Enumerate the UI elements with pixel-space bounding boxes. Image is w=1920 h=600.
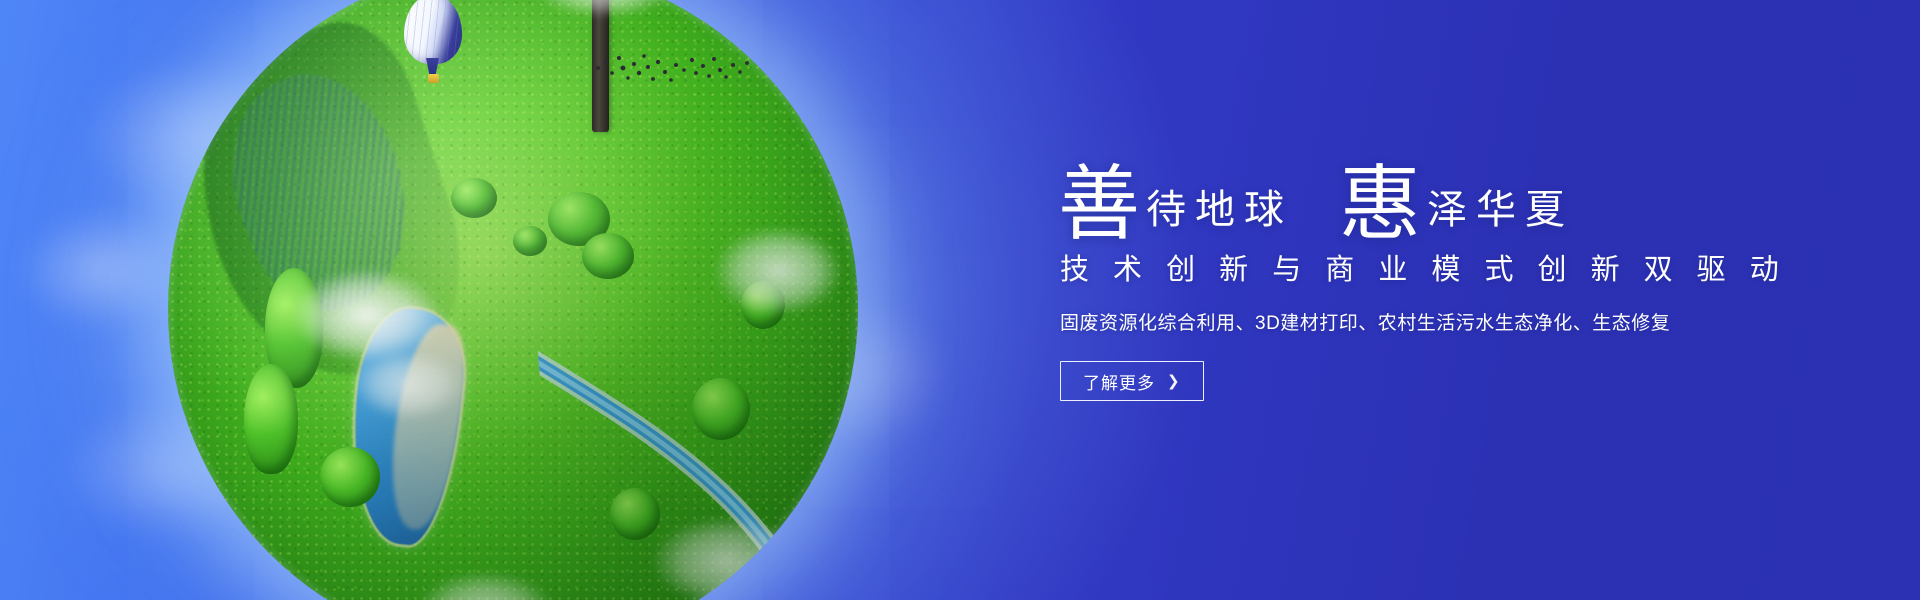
tree-clump [582,233,634,279]
tree-clump [692,378,750,440]
tree-clump [265,268,323,388]
tree-clump [610,488,660,540]
lake-shore [380,319,474,533]
lake [342,304,469,548]
page-title: 善 待地球 惠 泽华夏 [1058,140,1818,236]
balloon-basket [428,74,439,83]
cloud-wisp [18,210,188,330]
learn-more-label: 了解更多 [1083,369,1155,394]
cloud-patch [416,571,556,600]
bird-flock-icon [592,46,752,98]
headline-part1-big: 善 [1058,167,1140,242]
headline-part2-big: 惠 [1339,167,1421,242]
cloud-patch [651,516,801,600]
tree-clump [513,226,547,256]
cloud-patch [292,268,442,363]
cloud-patch [713,226,843,316]
cloud-patch [354,350,464,420]
headline-part1-small: 待地球 [1146,190,1293,230]
river [536,311,858,600]
hot-air-balloon-icon [404,0,462,89]
tree-clump [548,192,610,246]
balloon-envelope [404,0,462,64]
headline-part2-small: 泽华夏 [1427,190,1574,230]
hero-subtitle: 技 术 创 新 与 商 业 模 式 创 新 双 驱 动 [1060,246,1818,288]
hero-description: 固废资源化综合利用、3D建材打印、农村生活污水生态净化、生态修复 [1060,308,1818,335]
earth-globe [168,0,858,600]
tree-clump [451,178,497,218]
chevron-right-icon: ❯ [1167,372,1181,390]
tree-clump [320,447,380,507]
tree-mist [530,0,680,18]
tree-clump [741,281,785,329]
tree-clump [244,364,298,474]
hero-copy: 善 待地球 惠 泽华夏 技 术 创 新 与 商 业 模 式 创 新 双 驱 动 … [1058,140,1818,401]
hero-banner: 善 待地球 惠 泽华夏 技 术 创 新 与 商 业 模 式 创 新 双 驱 动 … [0,0,1920,600]
learn-more-button[interactable]: 了解更多 ❯ [1060,361,1204,401]
